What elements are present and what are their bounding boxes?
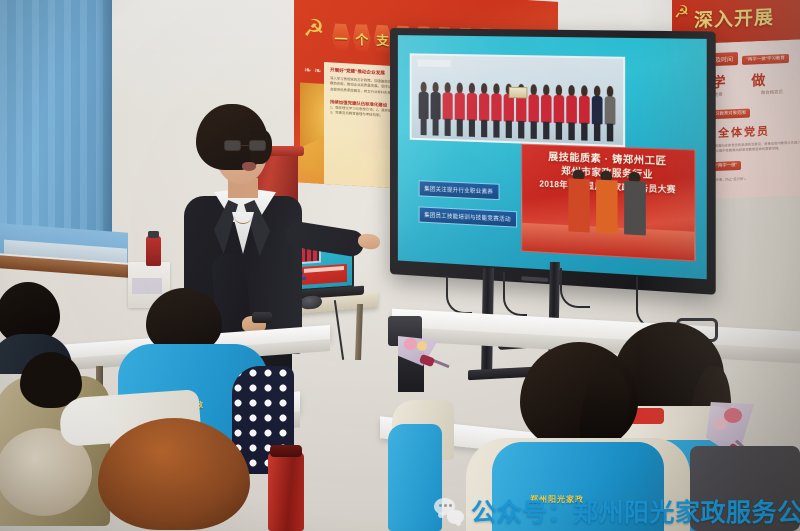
window-with-blind: [0, 223, 128, 284]
wall-shading: [640, 0, 800, 531]
dove-icon: ❧ ❧: [304, 65, 322, 77]
banner-char: 一: [332, 23, 351, 52]
eyeglasses-icon: [224, 140, 266, 152]
photo-person: [491, 84, 502, 137]
photo-person: [418, 82, 429, 135]
watermark: 公众号：郑州阳光家政服务公司: [434, 493, 800, 529]
certificate-plaque: [509, 87, 528, 98]
red-thermos: [268, 452, 304, 531]
photo-person: [541, 85, 553, 139]
banner-char: 个: [352, 24, 371, 53]
photo-person: [604, 86, 616, 141]
watermark-text: 公众号：郑州阳光家政服务公司: [471, 493, 800, 529]
window-curtain-left: [0, 0, 112, 258]
slide-label-1: 集团关注提升行业职业素养: [418, 180, 499, 200]
award-people: [566, 169, 648, 236]
photo-watermark: [418, 60, 451, 68]
slide-label-2: 集团员工技能培训与技能竞赛活动: [418, 206, 517, 227]
bouquet-flower: [404, 338, 417, 350]
photo-person: [479, 83, 490, 136]
photo-person: [553, 85, 565, 139]
presenter-mouth-speaking: [242, 162, 256, 171]
photo-person: [591, 86, 603, 140]
party-emblem-icon: ☭: [303, 17, 329, 45]
thermos-cap: [270, 445, 302, 457]
shelf-thermos: [146, 236, 161, 266]
attendee-head: [98, 418, 250, 530]
photo-person: [528, 84, 539, 138]
hanging-cable: [446, 276, 472, 314]
photo-person: [466, 83, 477, 136]
photo-person: [579, 86, 591, 140]
photo-person: [430, 82, 441, 135]
award-person: [594, 170, 619, 234]
flower-bouquet: [398, 336, 454, 388]
photo-person: [454, 83, 465, 136]
presenter-hair: [196, 104, 268, 170]
hanging-cable: [503, 272, 527, 316]
wechat-icon: [434, 498, 464, 524]
hanging-cable: [560, 268, 590, 308]
photo-person: [566, 85, 578, 139]
photo-person: [442, 83, 453, 136]
award-person: [567, 169, 591, 233]
slide-photo-group: [409, 53, 625, 146]
attendee-far-left-dark: [0, 282, 66, 358]
meeting-room-photo: ❧ ❧ ☭ 一 个 支 部 一 个 堡 垒 一 个 党 开展好"党建"推动企业发…: [0, 0, 800, 531]
curtain-folds: [0, 0, 112, 258]
bouquet-flower: [417, 341, 427, 351]
photo-people-row: [416, 73, 620, 140]
attendee-orange-hair: [82, 418, 282, 531]
presenter-necklace: [234, 208, 252, 224]
